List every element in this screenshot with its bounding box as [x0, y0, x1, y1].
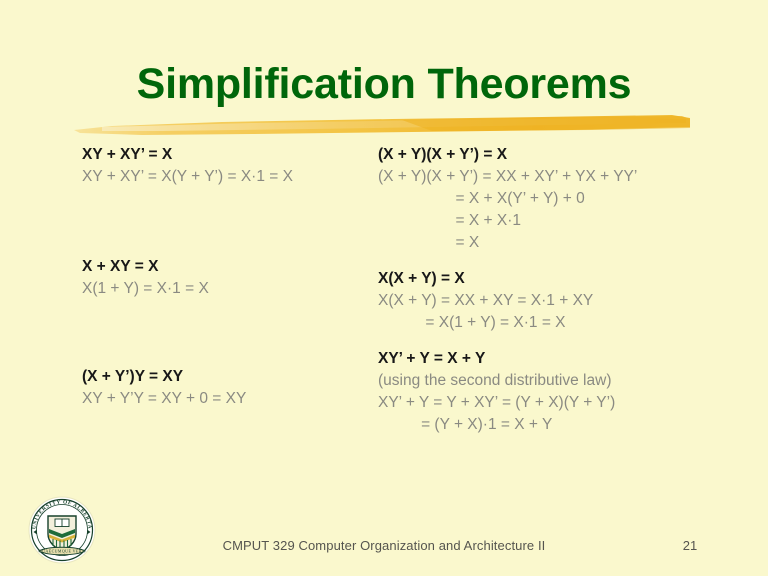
theorem-derivation: XY + Y’Y = XY + 0 = XY	[82, 388, 382, 410]
theorem-block: (X + Y’)Y = XY XY + Y’Y = XY + 0 = XY	[82, 366, 382, 410]
theorem-derivation: = X(1 + Y) = X·1 = X	[378, 312, 728, 334]
slide: Simplification Theorems	[0, 0, 768, 576]
theorem-derivation: (X + Y)(X + Y’) = XX + XY’ + YX + YY’	[378, 166, 728, 188]
title-area: Simplification Theorems	[0, 58, 768, 118]
page-number: 21	[660, 538, 720, 553]
theorem-statement: (X + Y’)Y = XY	[82, 366, 382, 388]
theorem-derivation: X(X + Y) = XX + XY = X·1 + XY	[378, 290, 728, 312]
theorem-derivation: XY + XY’ = X(Y + Y’) = X·1 = X	[82, 166, 382, 188]
left-column: XY + XY’ = X XY + XY’ = X(Y + Y’) = X·1 …	[82, 144, 382, 410]
theorem-statement: X(X + Y) = X	[378, 268, 728, 290]
theorem-derivation: X(1 + Y) = X·1 = X	[82, 278, 382, 300]
theorem-block: X(X + Y) = X X(X + Y) = XX + XY = X·1 + …	[378, 268, 728, 334]
theorem-statement: XY + XY’ = X	[82, 144, 382, 166]
theorem-statement: (X + Y)(X + Y’) = X	[378, 144, 728, 166]
theorem-block: (X + Y)(X + Y’) = X (X + Y)(X + Y’) = XX…	[378, 144, 728, 254]
university-of-alberta-crest-icon: UNIVERSITY OF ALBERTA	[26, 494, 98, 566]
theorem-derivation: XY’ + Y = Y + XY’ = (Y + X)(Y + Y’)	[378, 392, 728, 414]
theorem-block: XY + XY’ = X XY + XY’ = X(Y + Y’) = X·1 …	[82, 144, 382, 188]
theorem-derivation: = (Y + X)·1 = X + Y	[378, 414, 728, 436]
theorem-block: X + XY = X X(1 + Y) = X·1 = X	[82, 256, 382, 300]
theorem-derivation: = X + X·1	[378, 210, 728, 232]
theorem-derivation: = X	[378, 232, 728, 254]
right-column: (X + Y)(X + Y’) = X (X + Y)(X + Y’) = XX…	[378, 144, 728, 436]
theorem-derivation: = X + X(Y’ + Y) + 0	[378, 188, 728, 210]
footer-course-label: CMPUT 329 Computer Organization and Arch…	[0, 538, 768, 553]
theorem-block: XY’ + Y = X + Y (using the second distri…	[378, 348, 728, 436]
theorem-note: (using the second distributive law)	[378, 370, 728, 392]
page-title: Simplification Theorems	[0, 58, 768, 110]
theorem-statement: X + XY = X	[82, 256, 382, 278]
university-logo: UNIVERSITY OF ALBERTA	[26, 494, 98, 566]
theorem-statement: XY’ + Y = X + Y	[378, 348, 728, 370]
